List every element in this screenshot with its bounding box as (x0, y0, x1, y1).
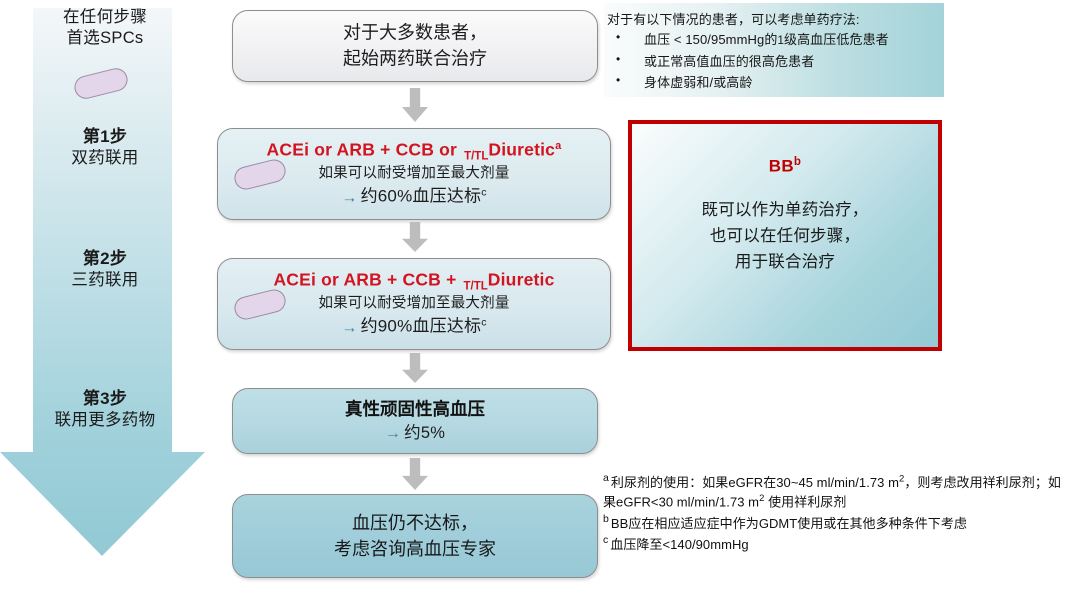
arrow-glyph: → (341, 319, 357, 336)
step1-titration: 如果可以耐受增加至最大剂量 (218, 164, 610, 186)
footnotes-block: a利尿剂的使用：如果eGFR在30~45 ml/min/1.73 m2，则考虑改… (603, 471, 1073, 554)
step2-goal-note: c (481, 316, 486, 328)
step-1-title: 第1步 (0, 126, 210, 148)
down-arrow-icon (402, 88, 428, 122)
step1-goal-note: c (481, 186, 486, 198)
down-arrow-icon (402, 222, 428, 252)
footnote-c: c血压降至<140/90mmHg (603, 533, 1073, 554)
flow-node-step2-text: ACEi or ARB + CCB +T/TLDiuretic 如果可以耐受增加… (218, 269, 610, 338)
flow-node-resistant-hypertension: 真性顽固性高血压 →约5% (232, 388, 598, 454)
bb-body: 既可以作为单药治疗， 也可以在任何步骤， 用于联合治疗 (632, 197, 938, 275)
step2-goal: →约90%血压达标c (218, 315, 610, 338)
step1-regimen: ACEi or ARB + CCB orT/TLDiuretica (218, 139, 610, 163)
footnote-c-mark: c (603, 534, 608, 546)
list-item: 身体虚弱和/或高龄 (610, 72, 889, 93)
spc-title-line2: 首选SPCs (0, 28, 210, 49)
down-arrow-icon (402, 353, 428, 383)
bullet-1-post: 级高血压低危患者 (784, 32, 889, 47)
step1-goal-text: 约60%血压达标 (361, 187, 482, 206)
step1-goal: →约60%血压达标c (218, 185, 610, 208)
monotherapy-criteria-box: 对于有以下情况的患者，可以考虑单药疗法: 血压 < 150/95mmHg的1级高… (604, 3, 944, 97)
refer-line-1: 血压仍不达标， (233, 510, 597, 536)
down-arrow-icon (402, 458, 428, 490)
monotherapy-heading: 对于有以下情况的患者，可以考虑单药疗法: (607, 9, 860, 28)
flow-node-refer-text: 血压仍不达标， 考虑咨询高血压专家 (233, 510, 597, 562)
flow-node-step2: ACEi or ARB + CCB +T/TLDiuretic 如果可以耐受增加… (217, 258, 611, 350)
step1-regimen-sub: T/TL (464, 150, 488, 162)
list-item: 血压 < 150/95mmHg的1级高血压低危患者 (610, 29, 889, 51)
refer-line-2: 考虑咨询高血压专家 (233, 536, 597, 562)
bullet-3-text: 身体虚弱和/或高龄 (644, 75, 753, 90)
beta-blocker-box: BBb 既可以作为单药治疗， 也可以在任何步骤， 用于联合治疗 (628, 120, 942, 351)
flow-node-refer-specialist: 血压仍不达标， 考虑咨询高血压专家 (232, 494, 598, 578)
footnote-a-mark: a (603, 472, 609, 484)
footnote-a: a利尿剂的使用：如果eGFR在30~45 ml/min/1.73 m2，则考虑改… (603, 471, 1073, 512)
start-line-2: 起始两药联合治疗 (233, 46, 597, 72)
footnote-a-text-1: 利尿剂的使用：如果eGFR在30~45 ml/min/1.73 m (611, 475, 899, 490)
step-3-title: 第3步 (0, 388, 210, 410)
bullet-2-text: 或正常高值血压的很高危患者 (644, 54, 814, 69)
step2-regimen: ACEi or ARB + CCB +T/TLDiuretic (218, 269, 610, 293)
resistant-heading: 真性顽固性高血压 (233, 398, 597, 422)
spc-preference-label: 在任何步骤 首选SPCs (0, 7, 210, 49)
bb-line-1: 既可以作为单药治疗， (632, 197, 938, 223)
step-1-subtitle: 双药联用 (0, 148, 210, 169)
step-2-subtitle: 三药联用 (0, 270, 210, 291)
step2-regimen-sub: T/TL (464, 280, 488, 292)
bb-line-2: 也可以在任何步骤， (632, 223, 938, 249)
step2-regimen-main: ACEi or ARB + CCB + (273, 269, 456, 289)
bullet-1-pre: 血压 < 150/95mmHg的 (644, 32, 777, 47)
step-2-title: 第2步 (0, 248, 210, 270)
flow-node-step1: ACEi or ARB + CCB orT/TLDiuretica 如果可以耐受… (217, 128, 611, 220)
step-3-label: 第3步 联用更多药物 (0, 388, 210, 431)
flow-node-resistant-text: 真性顽固性高血压 →约5% (233, 398, 597, 444)
flow-node-start: 对于大多数患者， 起始两药联合治疗 (232, 10, 598, 82)
step1-regimen-tail: Diuretic (488, 139, 555, 159)
step2-goal-text: 约90%血压达标 (361, 317, 482, 336)
arrow-glyph: → (385, 425, 401, 442)
footnote-c-text: 血压降至<140/90mmHg (610, 537, 748, 552)
footnote-b: bBB应在相应适应症中作为GDMT使用或在其他多种条件下考虑 (603, 512, 1073, 533)
list-item: 或正常高值血压的很高危患者 (610, 51, 889, 72)
resistant-goal-text: 约5% (404, 424, 445, 442)
bb-title: BBb (632, 156, 938, 177)
step-2-label: 第2步 三药联用 (0, 248, 210, 291)
bb-line-3: 用于联合治疗 (632, 249, 938, 275)
footnote-b-mark: b (603, 513, 609, 525)
footnote-b-text: BB应在相应适应症中作为GDMT使用或在其他多种条件下考虑 (611, 516, 967, 531)
step-1-label: 第1步 双药联用 (0, 126, 210, 169)
step-3-subtitle: 联用更多药物 (0, 410, 210, 431)
spc-title-line1: 在任何步骤 (0, 7, 210, 28)
step2-regimen-tail: Diuretic (488, 269, 555, 289)
start-line-1: 对于大多数患者， (233, 20, 597, 46)
flow-node-start-text: 对于大多数患者， 起始两药联合治疗 (233, 20, 597, 71)
monotherapy-bullet-list: 血压 < 150/95mmHg的1级高血压低危患者 或正常高值血压的很高危患者 … (610, 29, 889, 93)
step1-regimen-note: a (555, 140, 561, 152)
step2-titration: 如果可以耐受增加至最大剂量 (218, 294, 610, 316)
resistant-goal: →约5% (233, 422, 597, 445)
arrow-glyph: → (341, 189, 357, 206)
step1-regimen-main: ACEi or ARB + CCB or (267, 139, 458, 159)
bb-title-note: b (794, 156, 801, 168)
flow-node-step1-text: ACEi or ARB + CCB orT/TLDiuretica 如果可以耐受… (218, 139, 610, 208)
bb-title-text: BB (769, 157, 794, 176)
footnote-a-text-3: 使用祥利尿剂 (764, 495, 846, 510)
